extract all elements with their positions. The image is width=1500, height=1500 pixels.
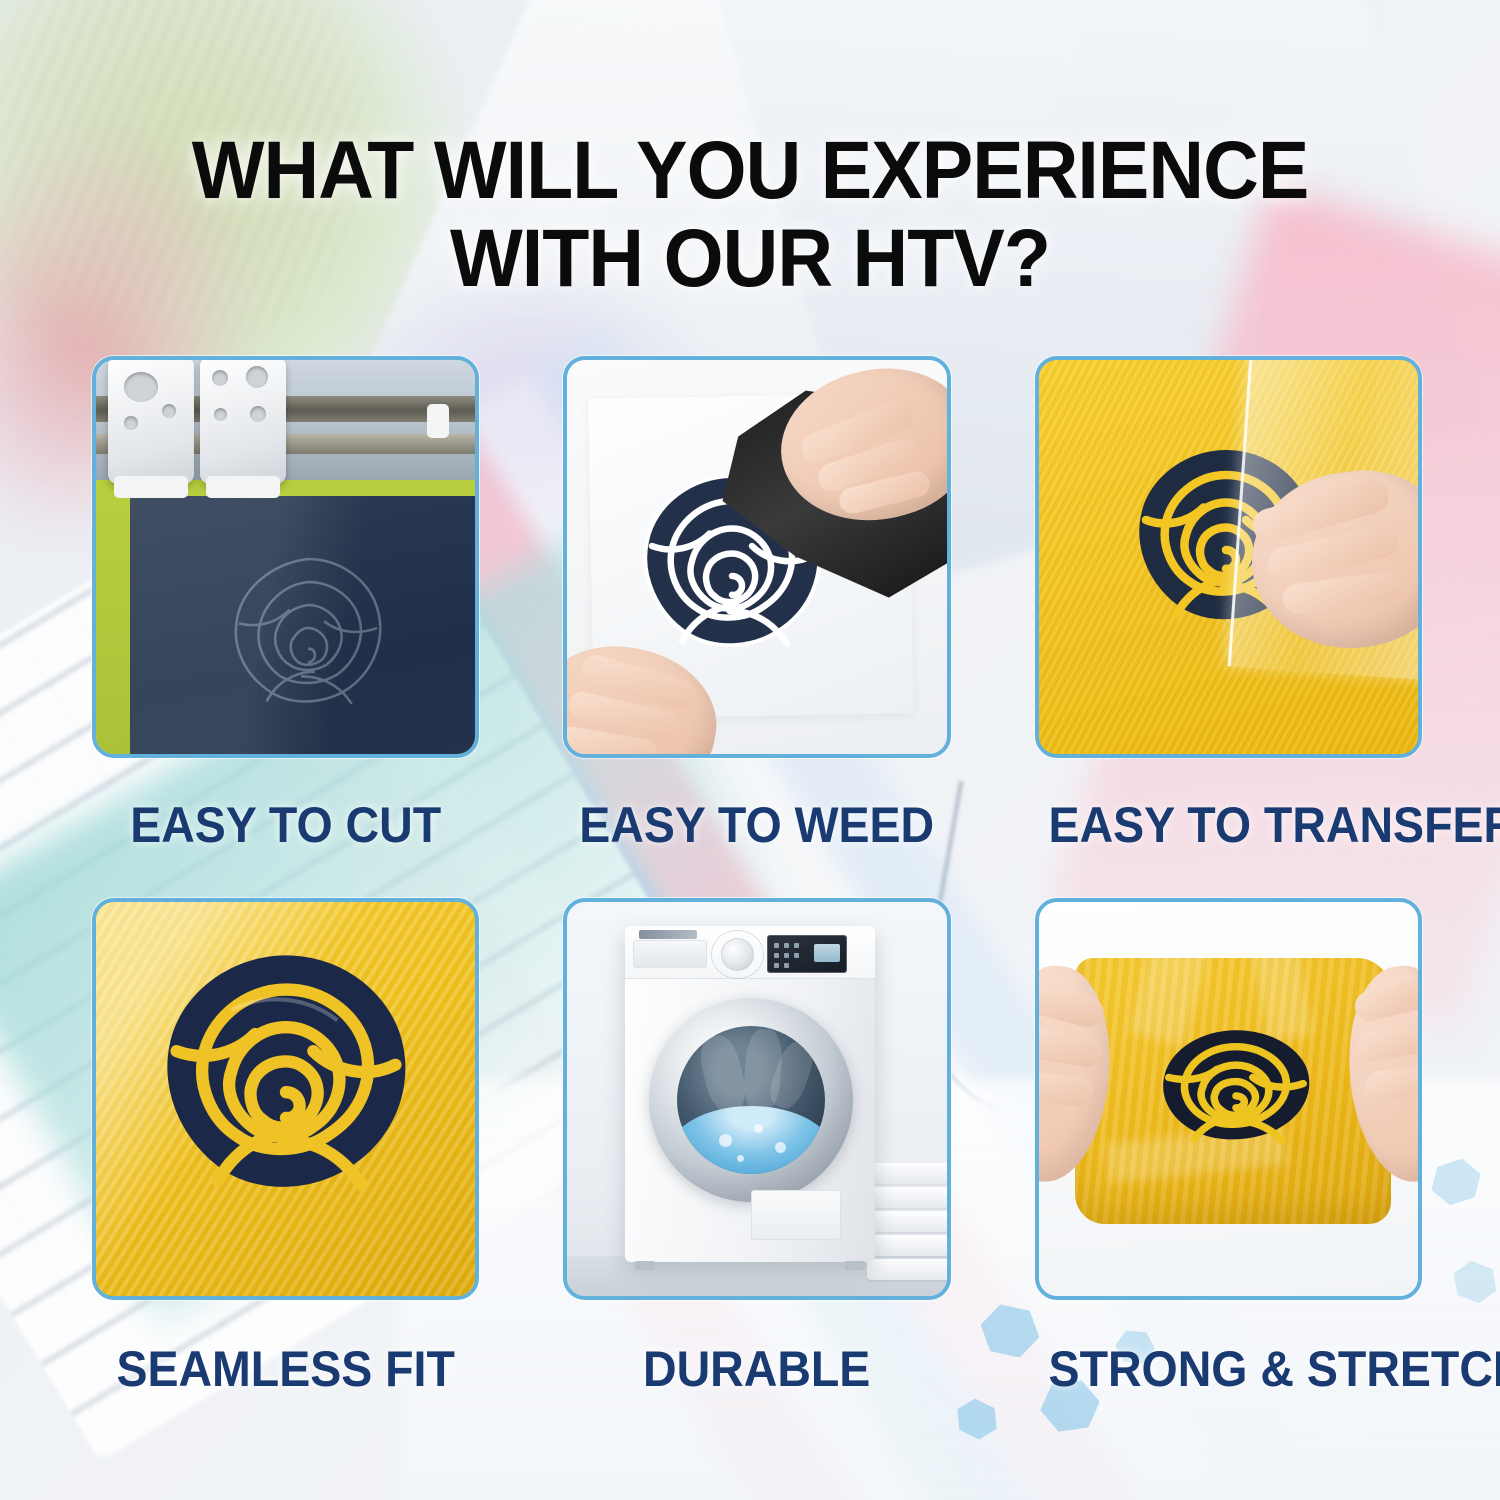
feature-image-easy-to-cut[interactable] <box>92 356 479 758</box>
door-glass <box>677 1026 825 1174</box>
feature-image-strong-stretchy[interactable] <box>1035 898 1422 1300</box>
control-panel <box>625 926 875 979</box>
filter-hatch <box>751 1190 841 1240</box>
drum-water <box>677 1106 825 1174</box>
brand-logo <box>639 930 697 939</box>
page-title-line-1: WHAT WILL YOU EXPERIENCE <box>192 125 1309 216</box>
feature-easy-to-transfer: EASY TO TRANSFER <box>1035 356 1422 854</box>
feature-image-easy-to-weed[interactable] <box>563 356 950 758</box>
feature-row-bottom: SEAMLESS FIT <box>92 898 1422 1398</box>
page-title-line-2: WITH OUR HTV? <box>45 215 1455 304</box>
feature-caption-durable: DURABLE <box>577 1340 937 1398</box>
feature-caption-seamless-fit: SEAMLESS FIT <box>106 1340 466 1398</box>
machine-roller <box>427 404 449 438</box>
washing-machine <box>625 926 875 1262</box>
folded-towels <box>867 1156 950 1280</box>
feature-caption-strong-stretchy: STRONG & STRETCHY <box>1048 1340 1408 1398</box>
drum-door[interactable] <box>649 998 853 1202</box>
feature-strong-stretchy: STRONG & STRETCHY <box>1035 898 1422 1398</box>
yellow-stretched-fabric <box>1075 958 1391 1224</box>
navy-vinyl-sheet <box>130 496 479 758</box>
feature-easy-to-cut: EASY TO CUT <box>92 356 479 854</box>
feature-row-top: EASY TO CUT <box>92 356 1422 854</box>
cutter-carriage-left <box>108 356 194 484</box>
feature-caption-easy-to-cut: EASY TO CUT <box>106 796 466 854</box>
feature-image-easy-to-transfer[interactable] <box>1035 356 1422 758</box>
navy-rose-design <box>1131 1020 1341 1180</box>
feature-image-seamless-fit[interactable] <box>92 898 479 1300</box>
feature-grid: EASY TO CUT <box>92 356 1422 1398</box>
feature-seamless-fit: SEAMLESS FIT <box>92 898 479 1398</box>
detergent-drawer <box>633 940 707 968</box>
feature-durable: DURABLE <box>563 898 950 1398</box>
feature-caption-easy-to-transfer: EASY TO TRANSFER <box>1048 796 1408 854</box>
feature-caption-easy-to-weed: EASY TO WEED <box>577 796 937 854</box>
page-title: WHAT WILL YOU EXPERIENCE WITH OUR HTV? <box>45 127 1455 304</box>
cutter-carriage-right <box>200 356 286 484</box>
navy-rose-design <box>103 928 468 1270</box>
rose-cut-outline <box>193 536 423 758</box>
feature-image-durable[interactable] <box>563 898 950 1300</box>
digital-display <box>767 935 847 973</box>
feature-easy-to-weed: EASY TO WEED <box>563 356 950 854</box>
